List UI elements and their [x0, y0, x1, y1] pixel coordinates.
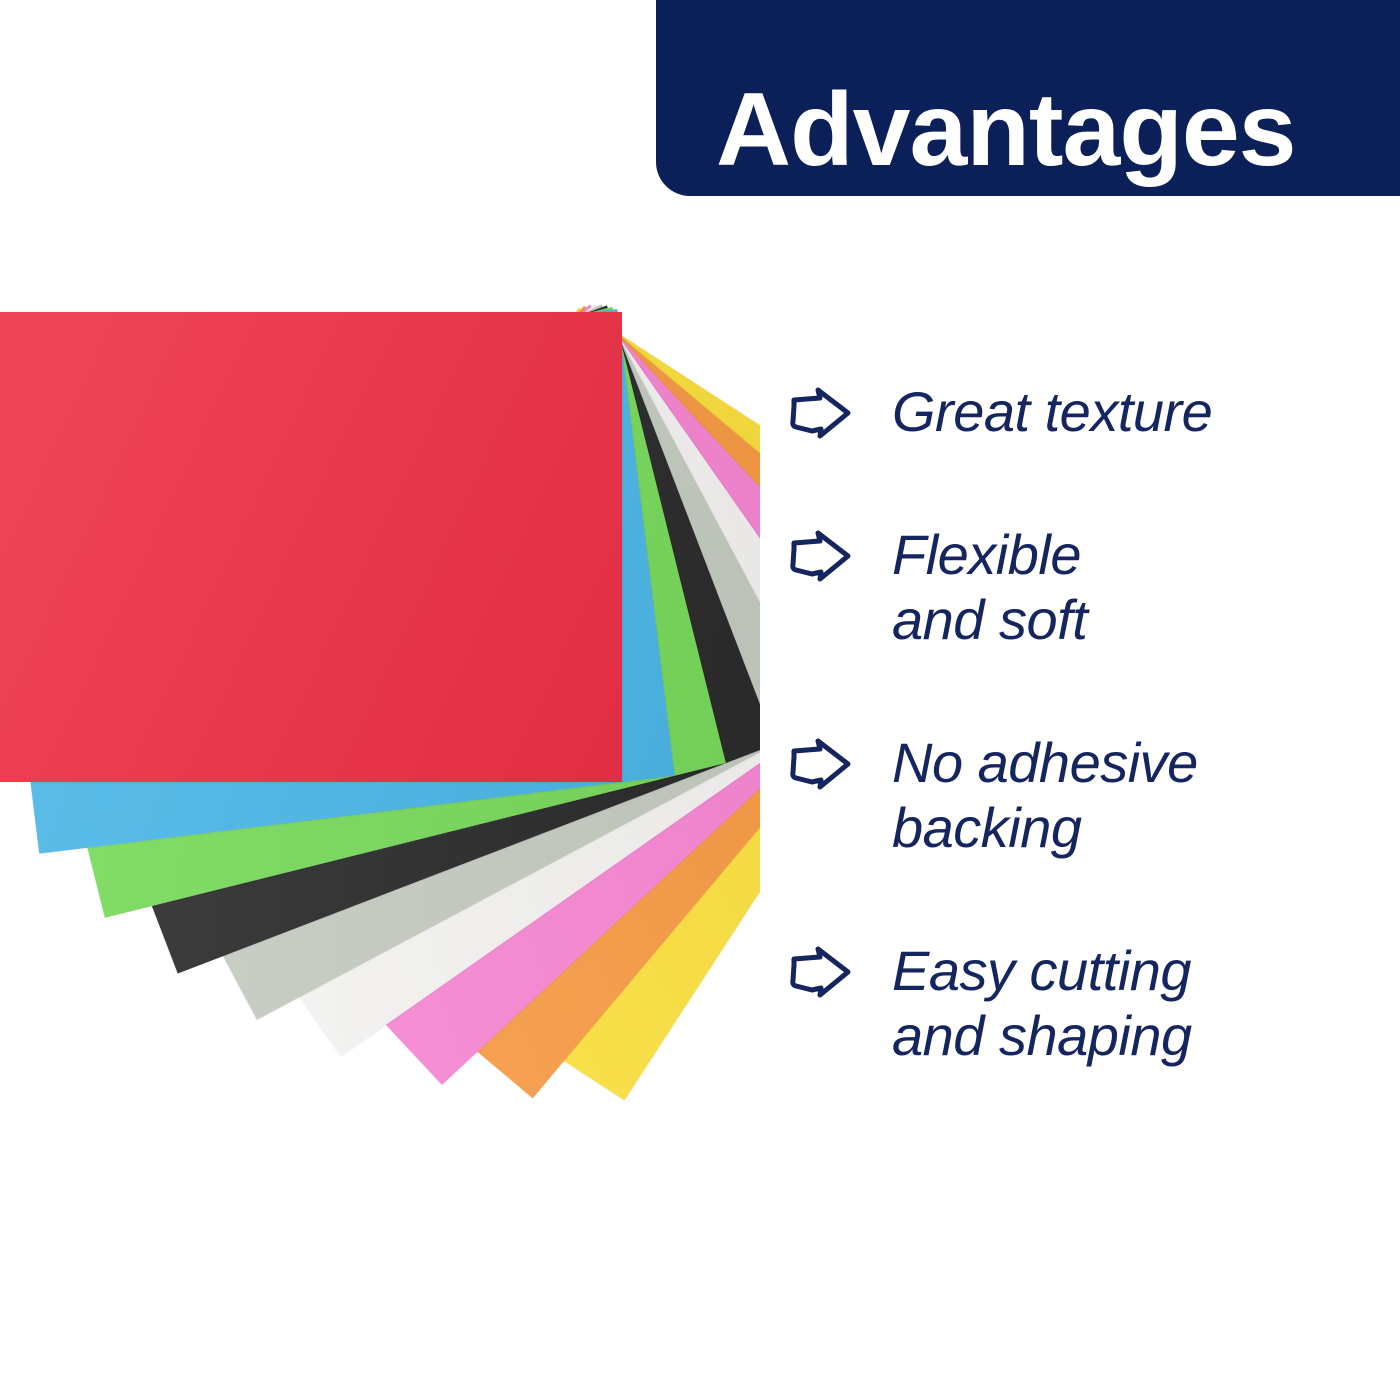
advantage-label: Great texture	[892, 380, 1212, 445]
arrow-right-outline-icon	[790, 737, 852, 793]
infographic-canvas: Advantages Great texture Flexible and so…	[0, 0, 1400, 1400]
advantage-item: Easy cutting and shaping	[790, 939, 1370, 1069]
advantage-item: No adhesive backing	[790, 731, 1370, 861]
advantages-list: Great texture Flexible and soft No adhes…	[790, 380, 1370, 1069]
advantage-label: No adhesive backing	[892, 731, 1198, 861]
header-banner: Advantages	[656, 0, 1400, 196]
advantage-label: Flexible and soft	[892, 523, 1087, 653]
arrow-right-outline-icon	[790, 945, 852, 1001]
arrow-right-outline-icon	[790, 386, 852, 442]
page-title: Advantages	[716, 78, 1296, 182]
foam-sheet-red	[0, 312, 622, 782]
arrow-right-outline-icon	[790, 529, 852, 585]
advantage-label: Easy cutting and shaping	[892, 939, 1192, 1069]
advantage-item: Flexible and soft	[790, 523, 1370, 653]
product-photo-sheet-fan	[0, 0, 760, 1400]
advantage-item: Great texture	[790, 380, 1370, 445]
